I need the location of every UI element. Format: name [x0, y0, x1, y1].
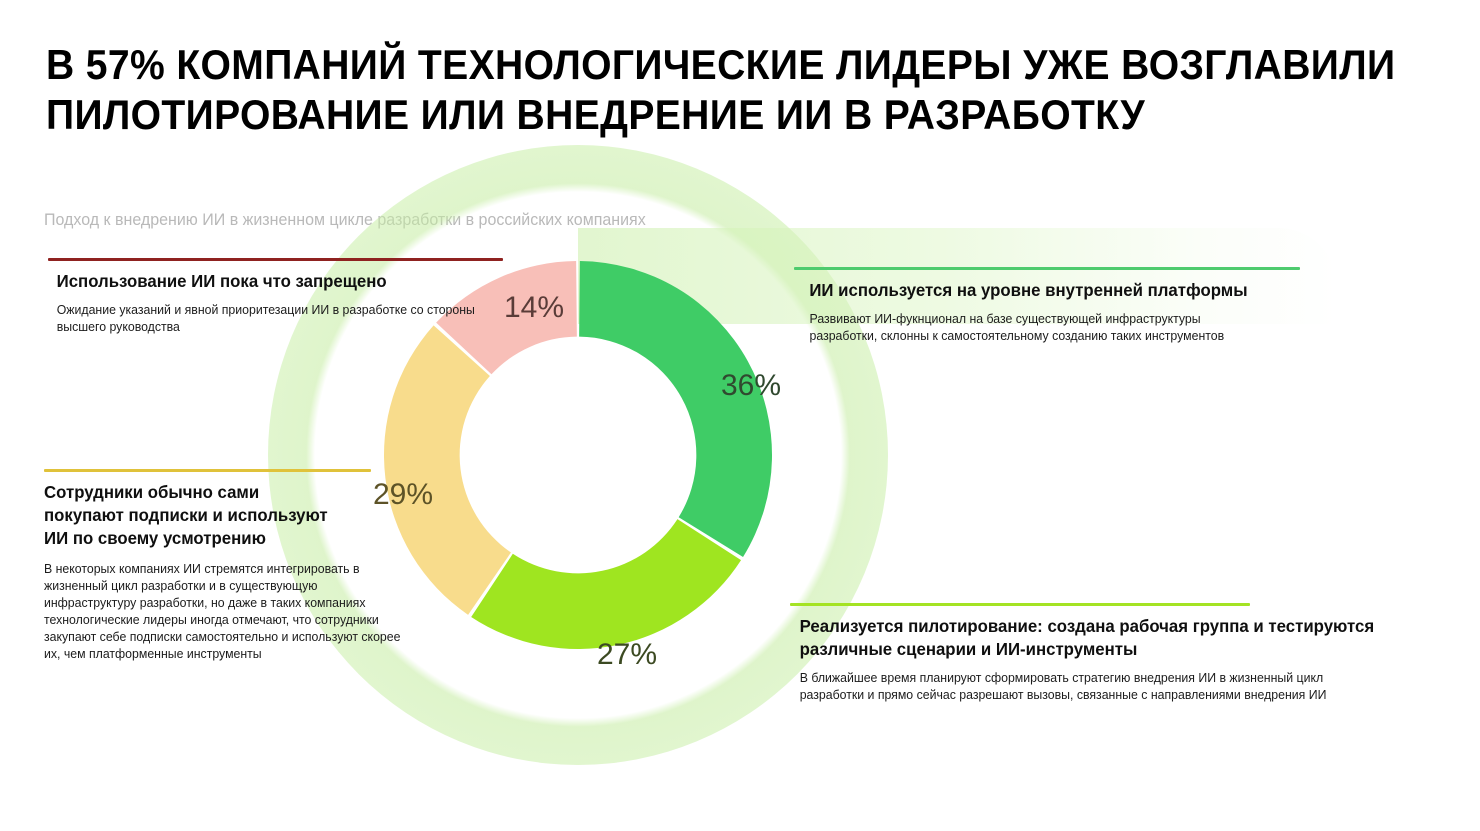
- callout-rule-pilot: [790, 603, 1250, 606]
- callout-employees: Сотрудники обычно сами покупают подписки…: [44, 469, 371, 663]
- callout-heading-forbidden: Использование ИИ пока что запрещено: [48, 270, 485, 293]
- callout-body-forbidden: Ожидание указаний и явной приоритезации …: [48, 302, 489, 336]
- callout-heading-pilot: Реализуется пилотирование: создана рабоч…: [790, 615, 1385, 661]
- callout-heading-employees: Сотрудники обычно сами покупают подписки…: [44, 481, 332, 550]
- callout-platform: ИИ используется на уровне внутренней пла…: [794, 267, 1300, 345]
- slice-label-pilot: 27%: [597, 638, 657, 672]
- callout-rule-platform: [794, 267, 1300, 270]
- callout-body-pilot: В ближайшее время планируют сформировать…: [790, 670, 1333, 704]
- slice-label-forbidden: 14%: [504, 291, 564, 325]
- callout-forbidden: Использование ИИ пока что запрещено Ожид…: [48, 258, 503, 336]
- donut-slice: [471, 519, 741, 649]
- slice-label-employees: 29%: [373, 478, 433, 512]
- callout-rule-forbidden: [48, 258, 503, 261]
- callout-pilot: Реализуется пилотирование: создана рабоч…: [790, 603, 1250, 704]
- donut-slice: [579, 261, 772, 557]
- callout-heading-platform: ИИ используется на уровне внутренней пла…: [794, 279, 1280, 302]
- chart-subtitle: Подход к внедрению ИИ в жизненном цикле …: [44, 209, 646, 231]
- slice-label-platform: 36%: [721, 369, 781, 403]
- infographic-slide: В 57% КОМПАНИЙ ТЕХНОЛОГИЧЕСКИЕ ЛИДЕРЫ УЖ…: [0, 0, 1480, 831]
- page-title-line-2: ПИЛОТИРОВАНИЕ ИЛИ ВНЕДРЕНИЕ ИИ В РАЗРАБО…: [46, 90, 1348, 140]
- callout-rule-employees: [44, 469, 371, 472]
- page-title: В 57% КОМПАНИЙ ТЕХНОЛОГИЧЕСКИЕ ЛИДЕРЫ УЖ…: [46, 40, 1446, 140]
- callout-body-employees: В некоторых компаниях ИИ стремятся интег…: [44, 561, 411, 663]
- callout-body-platform: Развивают ИИ-фукнционал на базе существу…: [794, 311, 1250, 345]
- page-title-line-1: В 57% КОМПАНИЙ ТЕХНОЛОГИЧЕСКИЕ ЛИДЕРЫ УЖ…: [46, 40, 1348, 90]
